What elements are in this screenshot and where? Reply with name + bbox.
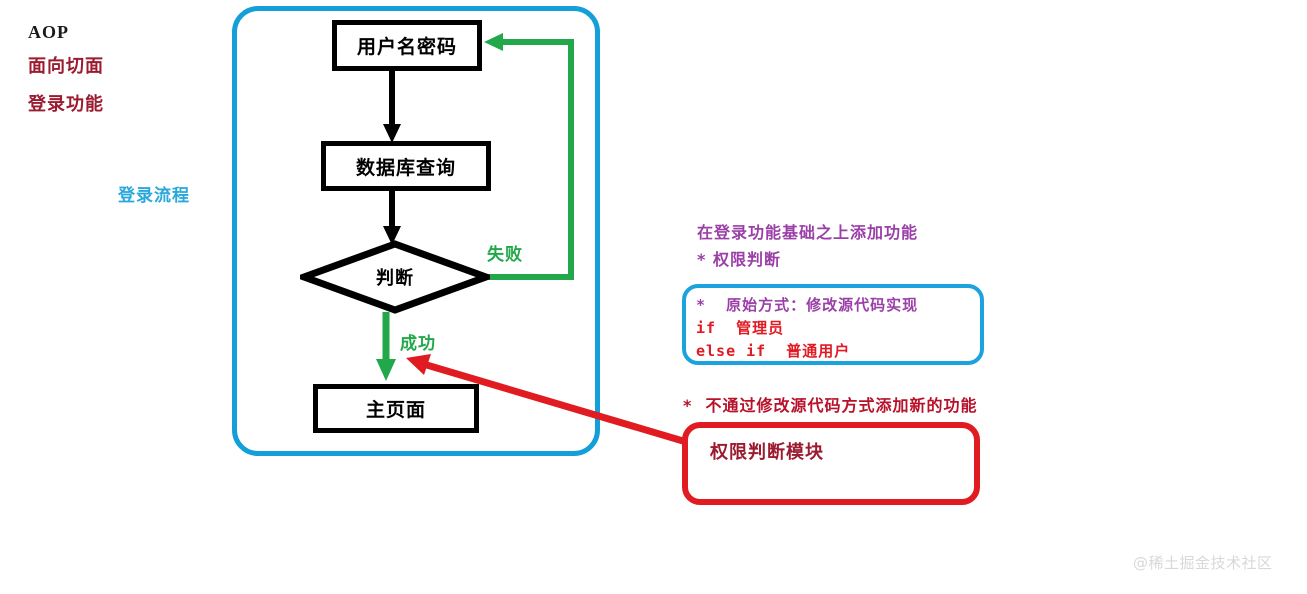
edge-label-success: 成功 xyxy=(400,329,436,354)
note-no-source-modification: * 不通过修改源代码方式添加新的功能 xyxy=(683,392,978,416)
note-add-function: 在登录功能基础之上添加功能 * 权限判断 xyxy=(697,219,918,273)
caption-login-function: 登录功能 xyxy=(28,90,104,116)
flow-node-homepage: 主页面 xyxy=(313,384,479,433)
caption-aspect-oriented: 面向切面 xyxy=(28,52,104,78)
flow-node-decision: 判断 xyxy=(300,240,490,314)
caption-aop: AOP xyxy=(28,22,69,43)
code-line-else-if-user: else if 普通用户 xyxy=(696,340,980,363)
flow-connectors xyxy=(0,0,1307,594)
watermark: @稀土掘金技术社区 xyxy=(1133,552,1273,573)
code-line-original-way: * 原始方式：修改源代码实现 xyxy=(696,294,980,317)
permission-module-label: 权限判断模块 xyxy=(710,438,974,464)
edge-label-fail: 失败 xyxy=(487,240,523,265)
code-panel: * 原始方式：修改源代码实现 if 管理员 else if 普通用户 xyxy=(682,284,984,365)
code-line-if-admin: if 管理员 xyxy=(696,317,980,340)
caption-login-flow: 登录流程 xyxy=(118,181,190,206)
flow-node-db-query: 数据库查询 xyxy=(321,141,491,191)
flow-node-credentials: 用户名密码 xyxy=(332,20,482,71)
diagram-canvas: AOP 面向切面 登录功能 登录流程 用户名密码 数据库查询 判断 主页面 失败… xyxy=(0,0,1307,594)
permission-module-panel: 权限判断模块 xyxy=(682,422,980,505)
